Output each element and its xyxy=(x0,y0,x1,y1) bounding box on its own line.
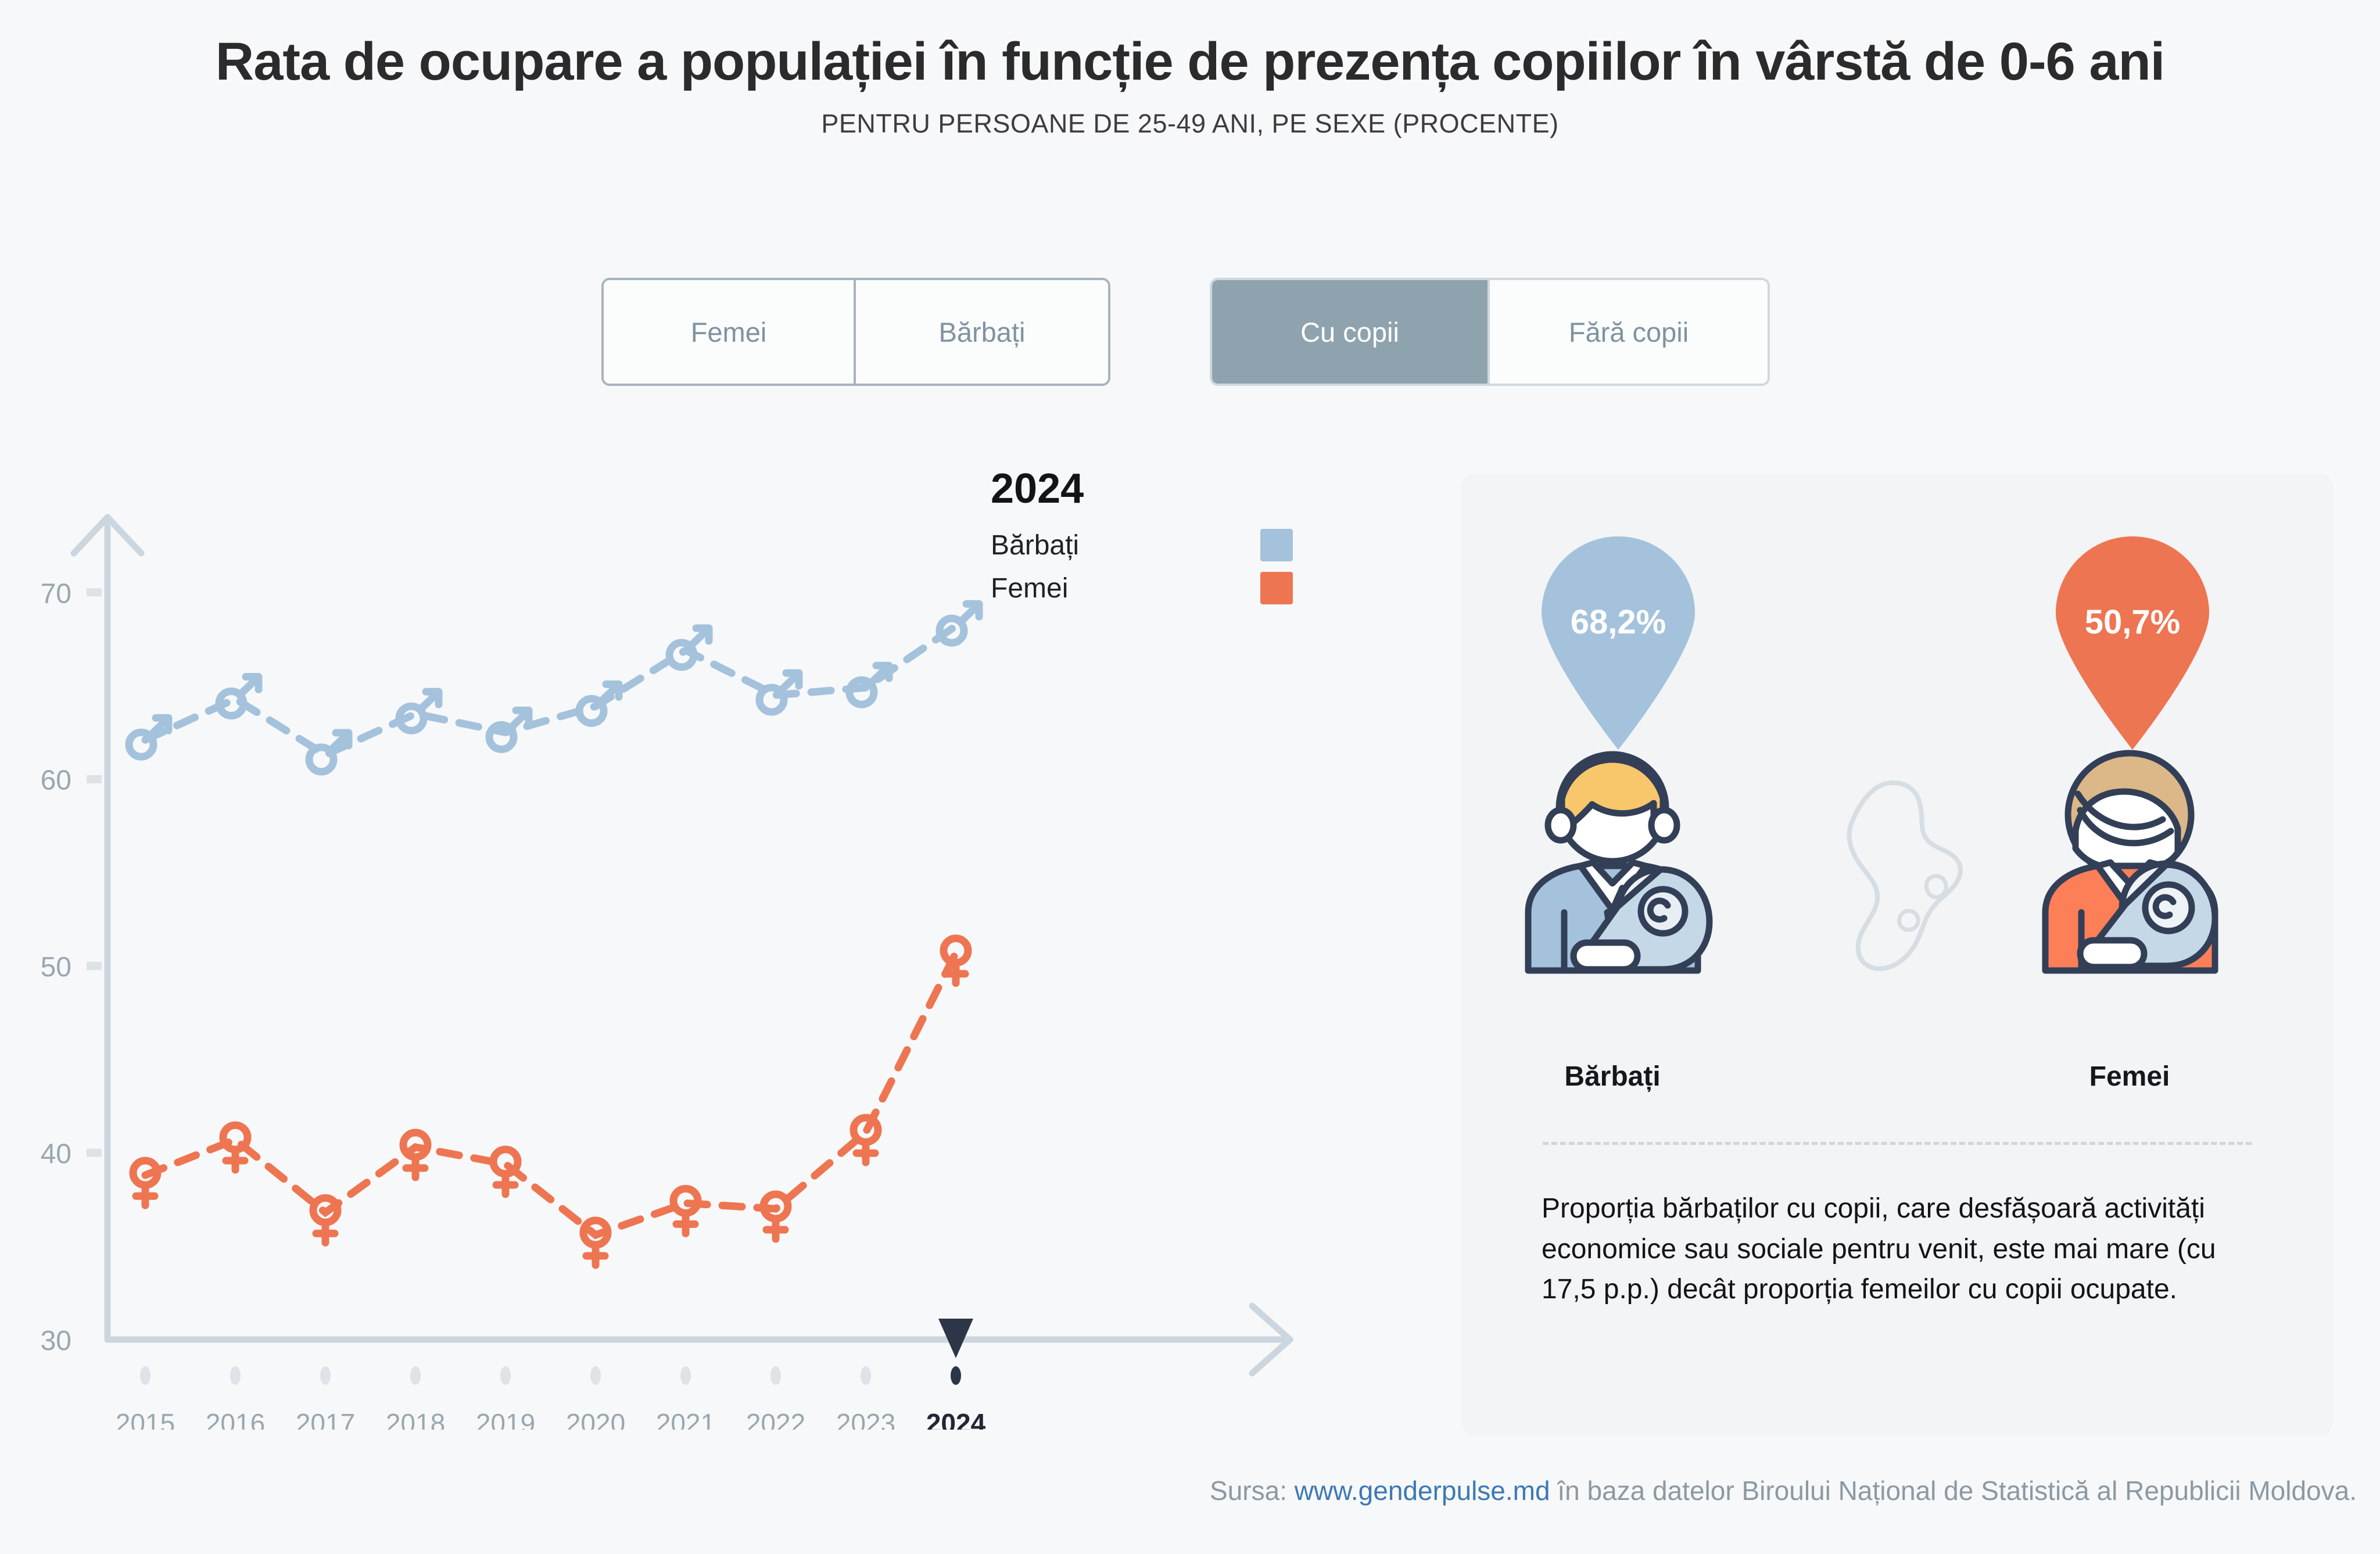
page-title: Rata de ocupare a populației în funcție … xyxy=(0,0,2380,94)
page-subtitle: PENTRU PERSOANE DE 25-49 ANI, PE SEXE (P… xyxy=(0,94,2380,139)
legend-year: 2024 xyxy=(991,465,1397,513)
x-axis-tick-label: 2024 xyxy=(926,1408,986,1430)
y-axis-tick-label: 30 xyxy=(41,1326,71,1356)
x-axis-tick-label: 2020 xyxy=(566,1408,625,1430)
y-axis-tick-label: 60 xyxy=(41,765,71,796)
female-symbol-marker xyxy=(764,1194,788,1239)
toggle-femei[interactable]: Femei xyxy=(604,280,856,384)
summary-panel: 68,2% 50,7% xyxy=(1461,474,2333,1435)
legend-label-femei: Femei xyxy=(991,572,1068,604)
male-symbol-marker xyxy=(850,665,889,704)
female-symbol-marker xyxy=(944,939,968,983)
pin-value-barbati: 68,2% xyxy=(1531,603,1705,642)
legend-item-barbati: Bărbați xyxy=(991,529,1293,561)
pin-value-femei: 50,7% xyxy=(2045,603,2220,642)
header: Rata de ocupare a populației în funcție … xyxy=(0,0,2380,139)
illustration-man-with-baby xyxy=(1493,738,1737,985)
gender-toggle-group: Femei Bărbați xyxy=(601,278,1110,386)
legend-swatch-barbati xyxy=(1260,529,1293,561)
male-symbol-marker xyxy=(489,710,529,749)
male-symbol-marker xyxy=(309,733,349,772)
male-symbol-marker xyxy=(399,692,439,731)
female-symbol-marker xyxy=(223,1125,248,1170)
legend-item-femei: Femei xyxy=(991,572,1293,604)
x-axis-tick-label: 2021 xyxy=(656,1408,715,1430)
male-symbol-marker xyxy=(129,718,169,757)
chart-legend: 2024 Bărbați Femei xyxy=(991,465,1397,615)
x-axis-tick-label: 2023 xyxy=(836,1408,895,1430)
y-axis-tick-label: 70 xyxy=(41,578,71,609)
children-toggle-group: Cu copii Fără copii xyxy=(1210,278,1770,386)
y-axis-tick-label: 50 xyxy=(41,952,71,983)
male-symbol-marker xyxy=(579,684,619,723)
source-footer: Sursa: www.genderpulse.md în baza datelo… xyxy=(0,1475,2380,1506)
panel-note: Proporția bărbaților cu copii, care desf… xyxy=(1542,1188,2268,1310)
figure-label-barbati: Bărbați xyxy=(1490,1061,1734,1093)
source-prefix: Sursa: xyxy=(1210,1476,1295,1506)
male-symbol-marker xyxy=(940,604,979,643)
female-symbol-marker xyxy=(493,1150,518,1194)
illustration-woman-with-baby xyxy=(2010,738,2254,985)
x-axis-tick-label: 2022 xyxy=(746,1408,805,1430)
x-axis-tick-label: 2018 xyxy=(386,1408,445,1430)
source-suffix: în baza datelor Biroului Național de Sta… xyxy=(1550,1476,2357,1506)
x-axis-tick-label: 2016 xyxy=(206,1408,265,1430)
female-symbol-marker xyxy=(403,1133,428,1177)
toggle-barbati[interactable]: Bărbați xyxy=(856,280,1108,384)
female-symbol-marker xyxy=(313,1198,338,1243)
x-axis-tick-label: 2015 xyxy=(116,1408,175,1430)
source-link[interactable]: www.genderpulse.md xyxy=(1295,1476,1550,1506)
figure-label-femei: Femei xyxy=(2008,1061,2252,1093)
female-symbol-marker xyxy=(673,1188,698,1233)
panel-divider xyxy=(1543,1142,2252,1145)
toggle-fara-copii[interactable]: Fără copii xyxy=(1490,280,1768,384)
legend-label-barbati: Bărbați xyxy=(991,529,1079,561)
y-axis-tick-label: 40 xyxy=(41,1139,71,1170)
male-symbol-marker xyxy=(669,628,709,667)
toggle-cu-copii[interactable]: Cu copii xyxy=(1212,280,1490,384)
female-symbol-marker xyxy=(133,1161,157,1205)
x-axis-tick-label: 2017 xyxy=(296,1408,355,1430)
female-symbol-marker xyxy=(583,1220,608,1265)
x-axis-tick-label: 2019 xyxy=(476,1408,535,1430)
legend-swatch-femei xyxy=(1260,572,1293,604)
moldova-map-outline xyxy=(1816,776,1990,982)
map-pin-femei: 50,7% xyxy=(2045,532,2220,753)
map-pin-barbati: 68,2% xyxy=(1531,532,1705,753)
